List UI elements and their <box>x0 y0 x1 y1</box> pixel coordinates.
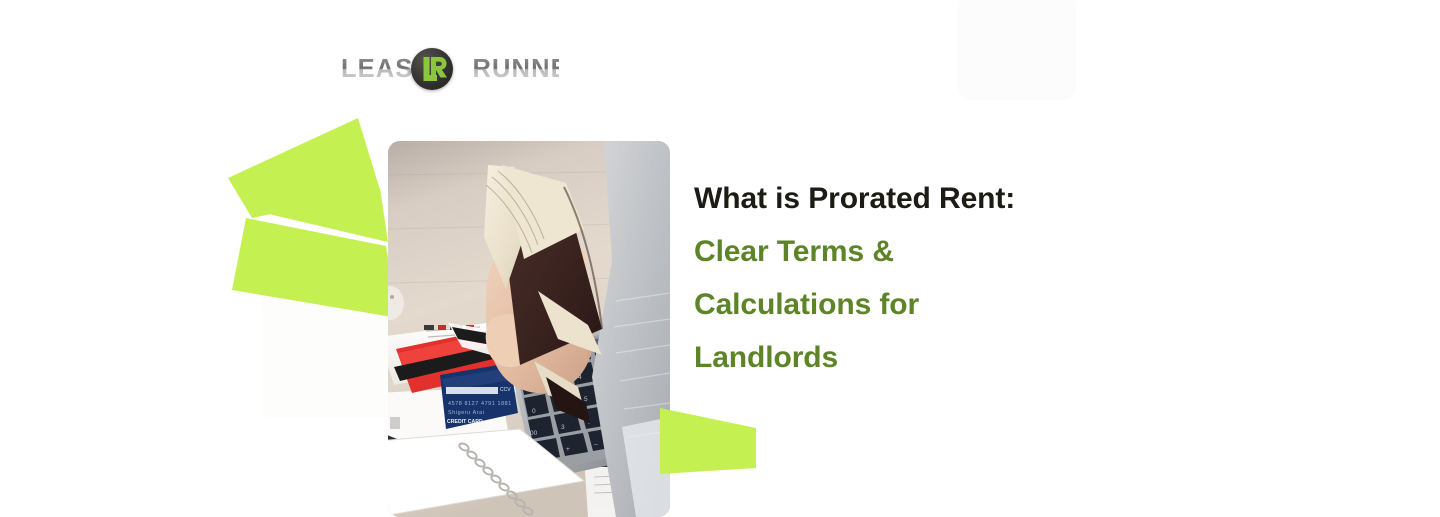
svg-text:Shigeru Arai: Shigeru Arai <box>448 410 485 416</box>
svg-text:+: + <box>566 446 570 453</box>
svg-text:4578 8127 4791 1881: 4578 8127 4791 1881 <box>448 401 512 407</box>
credit-card-ccv-label: CCV <box>500 387 511 393</box>
headline-line-4: Landlords <box>694 331 1154 384</box>
svg-text:–: – <box>594 441 598 448</box>
logo-letter-r <box>431 57 447 78</box>
headline-line-1: What is Prorated Rent: <box>694 172 1154 225</box>
hero-photo: CCV 4578 8127 4791 1881 Shigeru Arai CRE… <box>388 141 670 517</box>
headline-line-2: Clear Terms & <box>694 225 1154 278</box>
logo-circle-mark <box>411 48 453 90</box>
logo-word-runner: RUNNER <box>473 55 589 83</box>
page-title: What is Prorated Rent: Clear Terms & Cal… <box>694 172 1154 384</box>
svg-text:5: 5 <box>584 396 588 403</box>
svg-text:3: 3 <box>561 424 565 431</box>
headline-line-3: Calculations for <box>694 278 1154 331</box>
lime-trapezoid-shape <box>660 404 756 476</box>
hero-banner: CCV 4578 8127 4791 1881 Shigeru Arai CRE… <box>0 0 1440 517</box>
credit-card-label: CREDIT CARD <box>447 419 483 425</box>
decorative-faint-block-top-right <box>958 0 1076 100</box>
svg-text:00: 00 <box>530 430 538 437</box>
leaserunner-logo[interactable]: LEASERUNNER <box>341 48 559 90</box>
svg-text:0: 0 <box>532 408 536 415</box>
